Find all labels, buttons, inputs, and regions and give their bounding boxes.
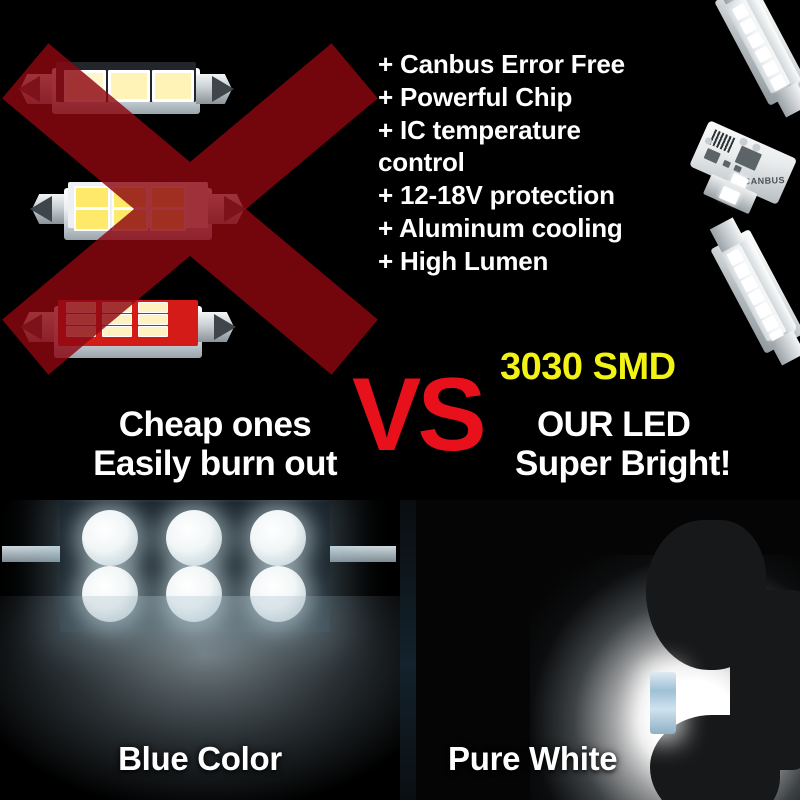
smd-chip — [112, 186, 148, 209]
lit-smd-dot — [82, 510, 138, 566]
feature-item: + High Lumen — [378, 245, 698, 278]
smd-chip — [74, 186, 110, 209]
feature-item: + Aluminum cooling — [378, 212, 698, 245]
our-headline-line2: Super Bright! — [515, 444, 800, 483]
pure-white-caption: Pure White — [400, 740, 800, 778]
bulb-shaft-right — [330, 546, 396, 562]
smd-type-label: 3030 SMD — [500, 346, 676, 389]
smd-chip — [66, 302, 96, 313]
smd-chip — [108, 70, 150, 102]
cheap-headline: Cheap ones Easily burn out — [60, 405, 370, 483]
smd-chip — [102, 302, 132, 313]
smd-chip — [138, 302, 168, 313]
our-headline: OUR LED Super Bright! — [515, 405, 800, 483]
pure-white-photo: Pure White — [400, 500, 800, 800]
lit-smd-dot — [250, 510, 306, 566]
blue-color-caption: Blue Color — [0, 740, 400, 778]
cheap-bulb-redpcb — [20, 296, 250, 368]
cheap-bulb-6smd — [30, 178, 250, 248]
cheap-bulb-3smd — [18, 58, 238, 124]
smd-chip — [74, 208, 110, 231]
smd-chip — [150, 208, 186, 231]
smd-chip — [150, 186, 186, 209]
feature-item: + IC temperature control — [378, 114, 640, 180]
canbus-print-label: CANBUS — [743, 175, 785, 186]
smd-chip — [102, 314, 132, 325]
smd-chip — [112, 208, 148, 231]
smd-chip — [152, 70, 194, 102]
led-comparison-poster: + Canbus Error Free + Powerful Chip + IC… — [0, 0, 800, 800]
smd-chip — [66, 326, 96, 337]
lit-led-bulb — [650, 672, 676, 734]
feature-item: + Canbus Error Free — [378, 48, 698, 81]
smd-chip — [138, 314, 168, 325]
smd-chip — [138, 326, 168, 337]
feature-list: + Canbus Error Free + Powerful Chip + IC… — [378, 48, 698, 277]
vs-label: VS — [352, 368, 483, 464]
cheap-headline-line1: Cheap ones — [60, 405, 370, 444]
bulb-shaft-left — [2, 546, 68, 562]
smd-chip — [102, 326, 132, 337]
smd-chip — [66, 314, 96, 325]
our-headline-line1: OUR LED — [515, 405, 800, 444]
cheap-headline-line2: Easily burn out — [60, 444, 370, 483]
feature-item: + Powerful Chip — [378, 81, 698, 114]
smd-chip — [64, 70, 106, 102]
lit-smd-dot — [166, 510, 222, 566]
blue-color-photo: Blue Color — [0, 500, 400, 800]
feature-item: + 12-18V protection — [378, 179, 698, 212]
